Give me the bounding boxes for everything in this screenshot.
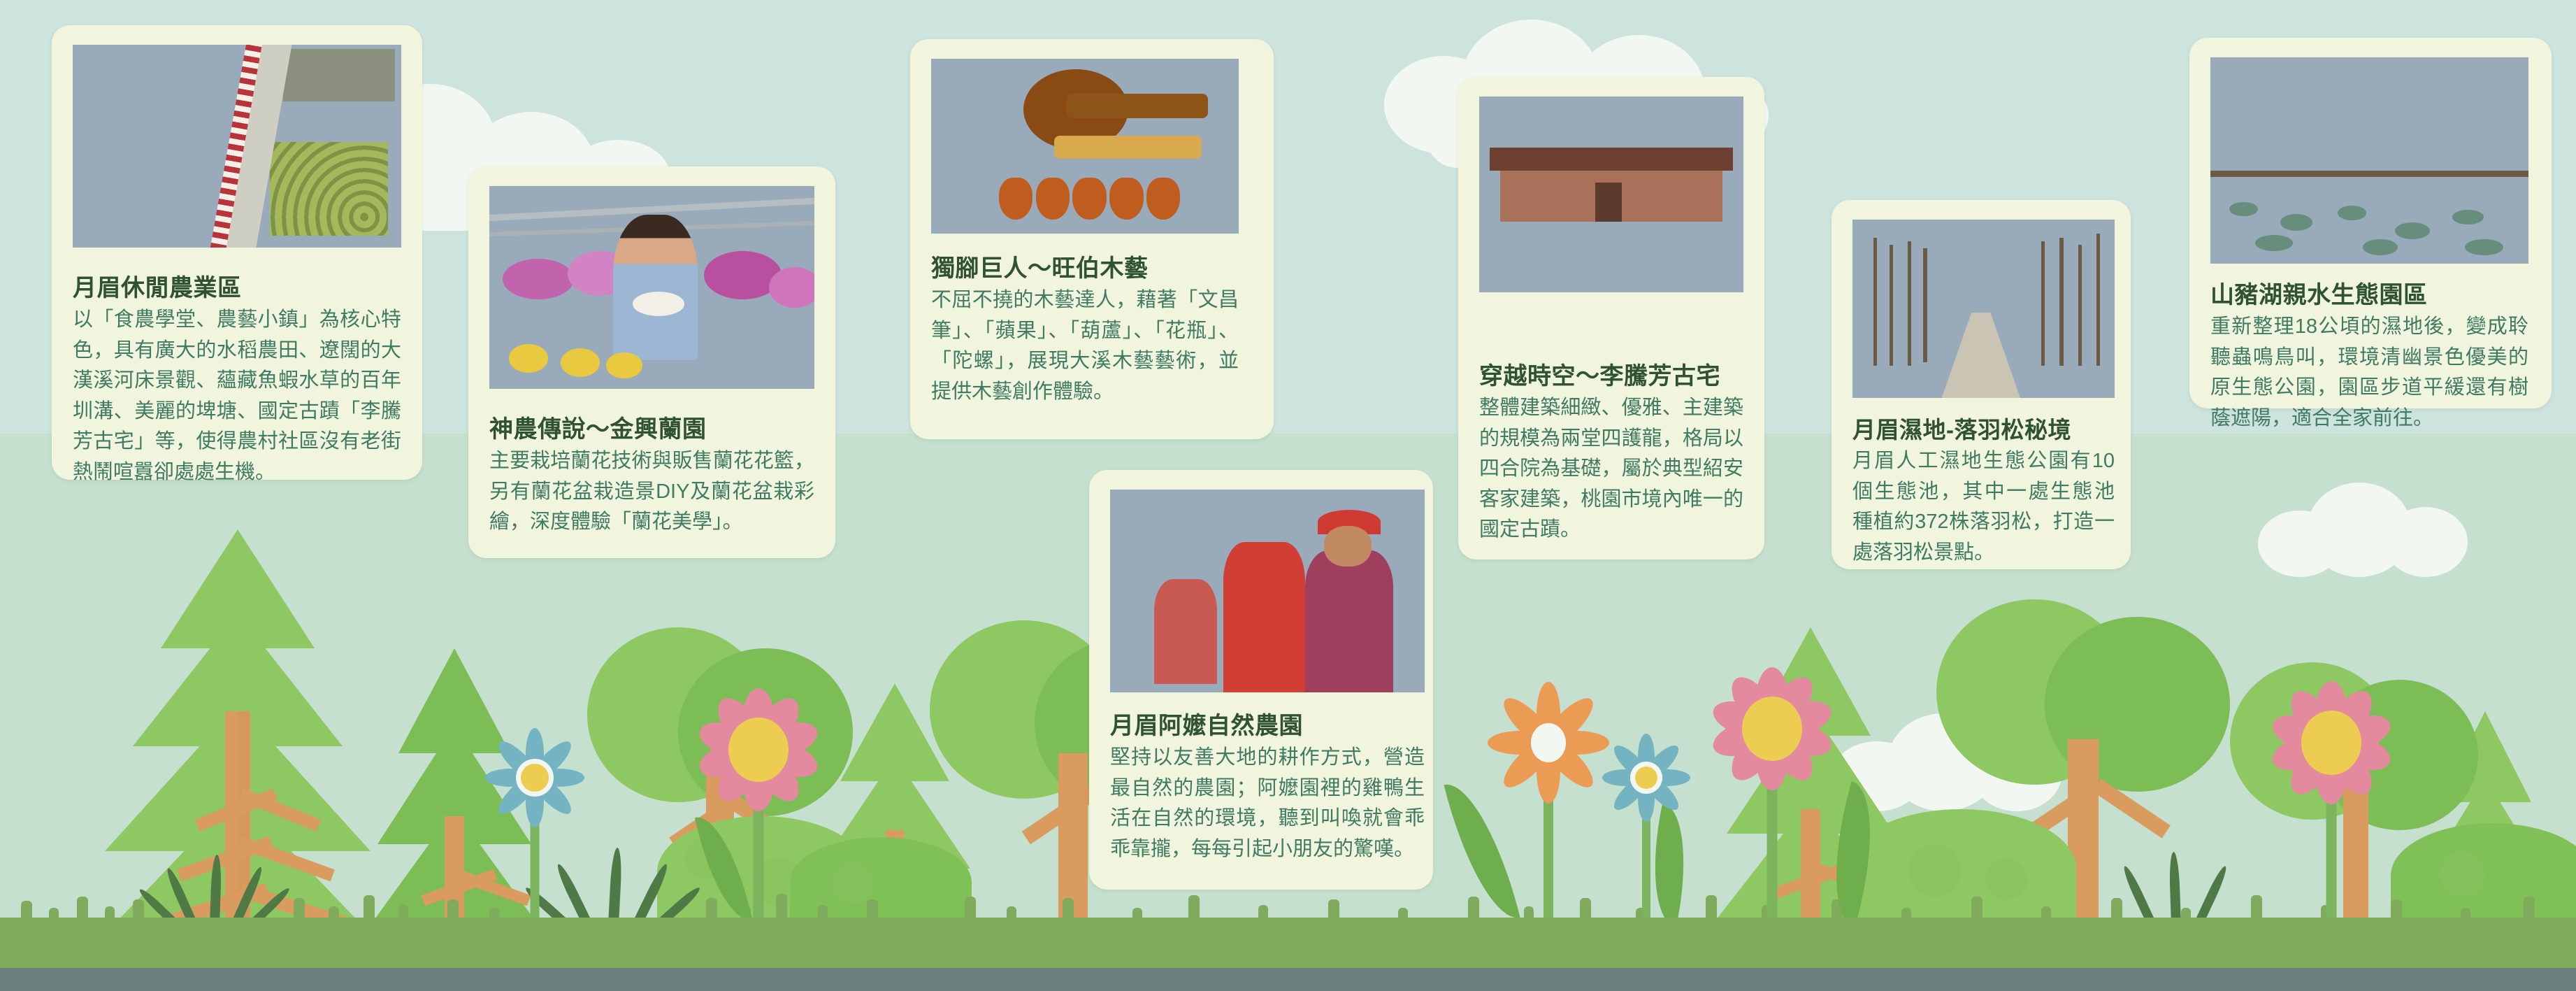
card-body: 整體建築細緻、優雅、主建築的規模為兩堂四護龍，格局以四合院為基礎，屬於典型紹安客… bbox=[1479, 393, 1743, 546]
flower-orange-1 bbox=[1489, 683, 1608, 921]
card-body: 以「食農學堂、農藝小鎮」為核心特色，具有廣大的水稻農田、遼闊的大漢溪河床景觀、蘊… bbox=[73, 305, 401, 487]
card-title: 月眉休閒農業區 bbox=[73, 269, 242, 303]
card-shanzhuhu-eco-park[interactable]: 山豬湖親水生態園區 重新整理18公頃的濕地後，變成聆聽蟲鳴鳥叫，環境清幽景色優美… bbox=[2189, 38, 2552, 408]
flower-blue-2 bbox=[1601, 732, 1692, 921]
card-photo bbox=[73, 45, 401, 248]
card-photo bbox=[2210, 57, 2528, 264]
card-yuemei-wetland-bald-cypress[interactable]: 月眉濕地-落羽松秘境 月眉人工濕地生態公園有10個生態池，其中一處生態池種植約3… bbox=[1832, 200, 2131, 569]
flower-blue-1 bbox=[482, 725, 587, 921]
card-body: 不屈不撓的木藝達人，藉著「文昌筆」、「蘋果」、「葫蘆」、「花瓶」、「陀螺」，展現… bbox=[931, 285, 1239, 407]
card-body: 重新整理18公頃的濕地後，變成聆聽蟲鳴鳥叫，環境清幽景色優美的原生態公園，園區步… bbox=[2210, 312, 2528, 434]
card-body: 主要栽培蘭花技術與販售蘭花花籃，另有蘭花盆栽造景DIY及蘭花盆栽彩繪，深度體驗「… bbox=[489, 446, 814, 538]
card-title: 山豬湖親水生態園區 bbox=[2210, 276, 2428, 310]
flower-pink-2 bbox=[1706, 662, 1839, 921]
card-title: 月眉阿嬤自然農園 bbox=[1110, 706, 1303, 741]
card-photo bbox=[1479, 97, 1743, 292]
card-yuemei-leisure-agri[interactable]: 月眉休閒農業區 以「食農學堂、農藝小鎮」為核心特色，具有廣大的水稻農田、遼闊的大… bbox=[52, 25, 422, 480]
card-body: 月眉人工濕地生態公園有10個生態池，其中一處生態池種植約372株落羽松，打造一處… bbox=[1852, 446, 2115, 568]
card-title: 神農傳說～金興蘭園 bbox=[489, 410, 707, 444]
card-photo bbox=[931, 59, 1239, 234]
flower-pink-1 bbox=[692, 683, 825, 921]
card-body: 堅持以友善大地的耕作方式，營造最自然的農園；阿嬤園裡的雞鴨生活在自然的環境，聽到… bbox=[1110, 743, 1425, 864]
soil-strip bbox=[0, 968, 2576, 991]
card-yuemei-ama-natural-farm[interactable]: 月眉阿嬤自然農園 堅持以友善大地的耕作方式，營造最自然的農園；阿嬤園裡的雞鴨生活… bbox=[1089, 470, 1433, 890]
card-dujiao-juren-wangbo-woodcraft[interactable]: 獨腳巨人～旺伯木藝 不屈不撓的木藝達人，藉著「文昌筆」、「蘋果」、「葫蘆」、「花… bbox=[910, 39, 1274, 439]
card-title: 穿越時空～李騰芳古宅 bbox=[1479, 357, 1720, 391]
card-photo bbox=[1110, 490, 1425, 692]
card-title: 獨腳巨人～旺伯木藝 bbox=[931, 249, 1149, 283]
infographic-canvas: 月眉休閒農業區 以「食農學堂、農藝小鎮」為核心特色，具有廣大的水稻農田、遼闊的大… bbox=[0, 0, 2576, 991]
card-litengfang-historic-house[interactable]: 穿越時空～李騰芳古宅 整體建築細緻、優雅、主建築的規模為兩堂四護龍，格局以四合院… bbox=[1458, 77, 1764, 559]
card-photo bbox=[489, 186, 814, 389]
grass-strip bbox=[0, 925, 2576, 968]
card-photo bbox=[1852, 220, 2115, 398]
card-title: 月眉濕地-落羽松秘境 bbox=[1852, 411, 2071, 445]
flower-pink-3 bbox=[2265, 676, 2398, 921]
card-shennong-jinxing-orchid[interactable]: 神農傳說～金興蘭園 主要栽培蘭花技術與販售蘭花花籃，另有蘭花盆栽造景DIY及蘭花… bbox=[468, 166, 835, 558]
